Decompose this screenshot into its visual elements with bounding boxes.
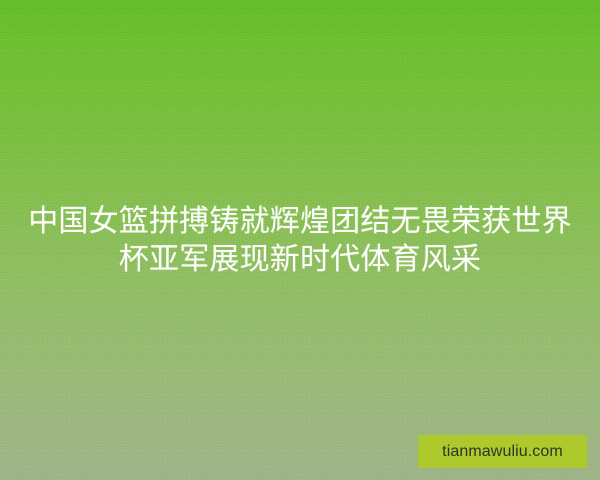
image-banner: 中国女篮拼搏铸就辉煌团结无畏荣获世界 杯亚军展现新时代体育风采 tianmawu… [0,0,600,480]
background-gradient [0,0,600,480]
watermark-text: tianmawuliu.com [442,444,563,460]
watermark-badge: tianmawuliu.com [418,435,587,468]
